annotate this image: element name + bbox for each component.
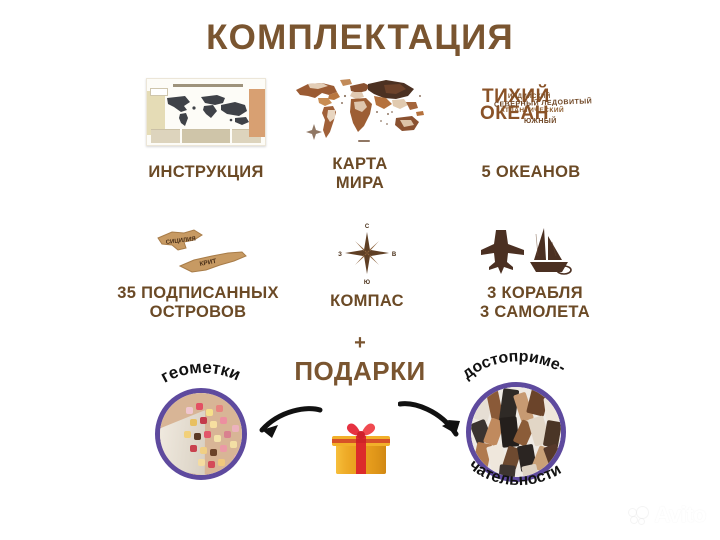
item-label-compass: КОМПАС xyxy=(307,292,427,311)
item-label-oceans: 5 ОКЕАНОВ xyxy=(446,163,616,182)
gift-box-icon xyxy=(330,420,392,478)
item-label-world-map: КАРТА МИРА xyxy=(300,155,420,194)
caption-landmarks-top-text: достоприме- xyxy=(459,348,569,382)
ocean-word-southern: ЮЖНЫЙ xyxy=(524,118,557,125)
gifts-title: ПОДАРКИ xyxy=(0,356,720,387)
item-label-islands-line2: ОСТРОВОВ xyxy=(90,303,306,322)
wooden-ship-and-plane-image xyxy=(478,222,574,282)
compass-rose-image: С Ю З В xyxy=(336,220,398,286)
wooden-islands-image: СИЦИЛИЯ КРИТ xyxy=(150,222,266,284)
avito-watermark-text: Avito xyxy=(654,502,706,528)
ocean-word-indian: ИНДИЙСКИЙ xyxy=(508,94,551,100)
svg-text:В: В xyxy=(392,252,397,258)
ocean-word-atlantic: АТЛАНТИЧЕСКИЙ xyxy=(500,107,564,114)
curved-arrow-right-icon xyxy=(398,400,476,458)
avito-watermark: Avito xyxy=(629,502,706,528)
svg-text:геометки: геометки xyxy=(157,358,243,387)
item-label-ships-planes-line2: 3 САМОЛЕТА xyxy=(440,303,630,322)
page-title: КОМПЛЕКТАЦИЯ xyxy=(0,18,720,58)
item-label-ships-planes: 3 КОРАБЛЯ 3 САМОЛЕТА xyxy=(440,284,630,323)
instruction-paper xyxy=(146,78,266,146)
item-label-islands-line1: 35 ПОДПИСАННЫХ xyxy=(90,284,306,303)
wooden-ocean-names-image: ТИХИЙ ОКЕАН СЕВЕРНЫЙ ЛЕДОВИТЫЙ АТЛАНТИЧЕ… xyxy=(478,86,574,138)
instruction-map-outline xyxy=(161,92,255,130)
svg-text:достоприме-: достоприме- xyxy=(459,348,569,382)
item-label-instruction: ИНСТРУКЦИЯ xyxy=(106,163,306,182)
caption-landmarks-bottom-text: чательности xyxy=(466,457,565,490)
curved-arrow-left-icon xyxy=(246,404,324,460)
gift-caption-geo-pins: геометки xyxy=(138,352,266,412)
caption-geo-text: геометки xyxy=(157,358,243,387)
instruction-headline-bar xyxy=(173,84,243,87)
svg-text:З: З xyxy=(338,252,342,258)
instruction-text-blocks xyxy=(151,129,261,143)
svg-text:С: С xyxy=(365,224,370,230)
promo-infographic: КОМПЛЕКТАЦИЯ xyxy=(0,0,720,540)
wooden-world-map-image xyxy=(288,76,430,148)
instruction-sheet-image xyxy=(146,78,266,146)
item-label-islands: 35 ПОДПИСАННЫХ ОСТРОВОВ xyxy=(90,284,306,323)
avito-dots-logo xyxy=(629,505,649,525)
item-label-world-map-line1: КАРТА xyxy=(300,155,420,174)
svg-text:Ю: Ю xyxy=(364,280,370,286)
plus-sign: + xyxy=(0,332,720,355)
svg-text:чательности: чательности xyxy=(466,457,565,490)
item-label-world-map-line2: МИРА xyxy=(300,174,420,193)
item-label-ships-planes-line1: 3 КОРАБЛЯ xyxy=(440,284,630,303)
